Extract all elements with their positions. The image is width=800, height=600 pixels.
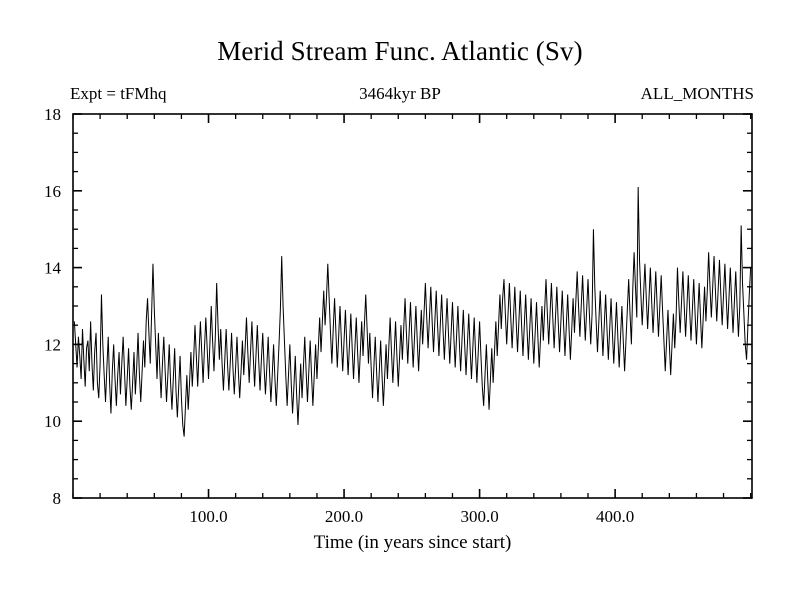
y-tick-label: 16 xyxy=(44,182,61,201)
x-tick-label: 400.0 xyxy=(596,507,634,526)
y-tick-label: 12 xyxy=(44,335,61,354)
chart-page: Merid Stream Func. Atlantic (Sv) Expt = … xyxy=(0,0,800,600)
x-axis-label: Time (in years since start) xyxy=(314,532,512,553)
plot-frame xyxy=(73,114,752,498)
y-tick-label: 18 xyxy=(44,105,61,124)
y-tick-label: 8 xyxy=(53,489,62,508)
x-tick-label: 100.0 xyxy=(189,507,227,526)
plot-area: 81012141618100.0200.0300.0400.0Time (in … xyxy=(0,0,800,600)
y-tick-label: 14 xyxy=(44,259,62,278)
x-tick-label: 300.0 xyxy=(460,507,498,526)
x-tick-label: 200.0 xyxy=(325,507,363,526)
y-tick-label: 10 xyxy=(44,412,61,431)
data-series-line-0 xyxy=(74,187,750,437)
timeseries-plot: 81012141618100.0200.0300.0400.0Time (in … xyxy=(0,0,800,600)
